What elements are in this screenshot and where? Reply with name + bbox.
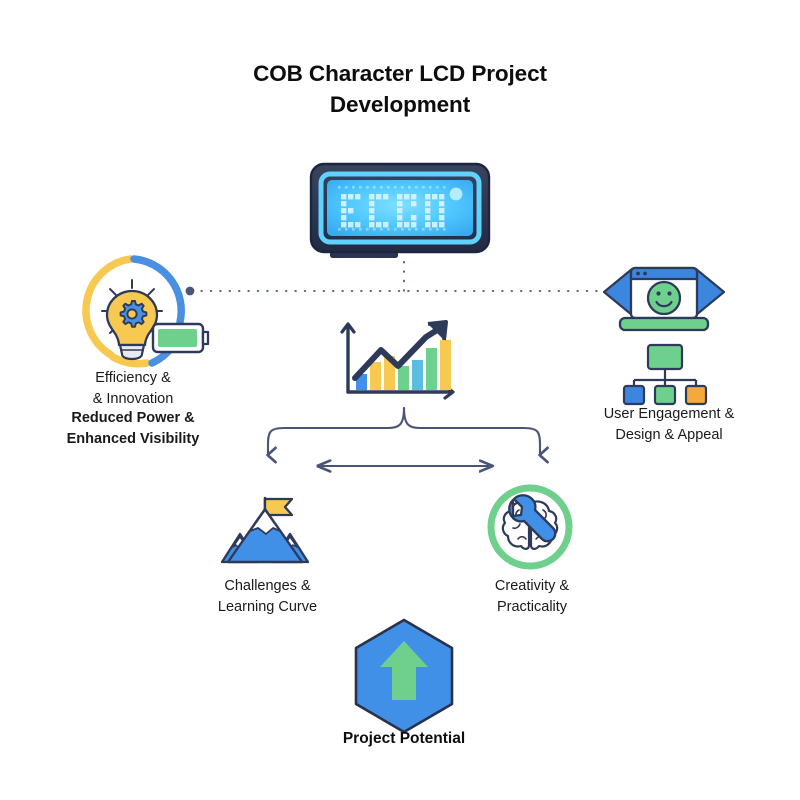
hexagon-up-arrow-icon	[356, 620, 452, 732]
lightbulb-gear-icon	[86, 259, 208, 364]
laptop-smiley-icon	[604, 268, 724, 330]
label-challenges-learning-curve: Challenges & Learning Curve	[180, 576, 355, 617]
growth-chart-icon	[342, 322, 453, 398]
connector-brace	[404, 408, 540, 455]
brain-wrench-icon	[491, 488, 569, 566]
label-reduced-power-visibility: Reduced Power & Enhanced Visibility	[24, 408, 242, 449]
label-user-engagement: User Engagement & Design & Appeal	[566, 404, 772, 445]
chart-bar	[398, 366, 409, 390]
label-efficiency-innovation: Efficiency & & Innovation	[30, 368, 236, 409]
chart-bar	[370, 362, 381, 390]
org-chart-icon	[624, 345, 706, 404]
connector-brace-left	[268, 408, 404, 455]
connector-lines	[186, 262, 625, 466]
chart-bar	[426, 348, 437, 390]
chart-bar	[412, 360, 423, 390]
chart-bar	[440, 340, 451, 390]
infographic-canvas: COB Character LCD Project Development	[0, 0, 800, 800]
mountain-flag-icon	[222, 498, 308, 562]
connector-dot-left	[186, 287, 195, 296]
lcd-display-icon	[311, 164, 489, 258]
label-creativity-practicality: Creativity & Practicality	[452, 576, 612, 617]
label-project-potential: Project Potential	[300, 730, 508, 748]
